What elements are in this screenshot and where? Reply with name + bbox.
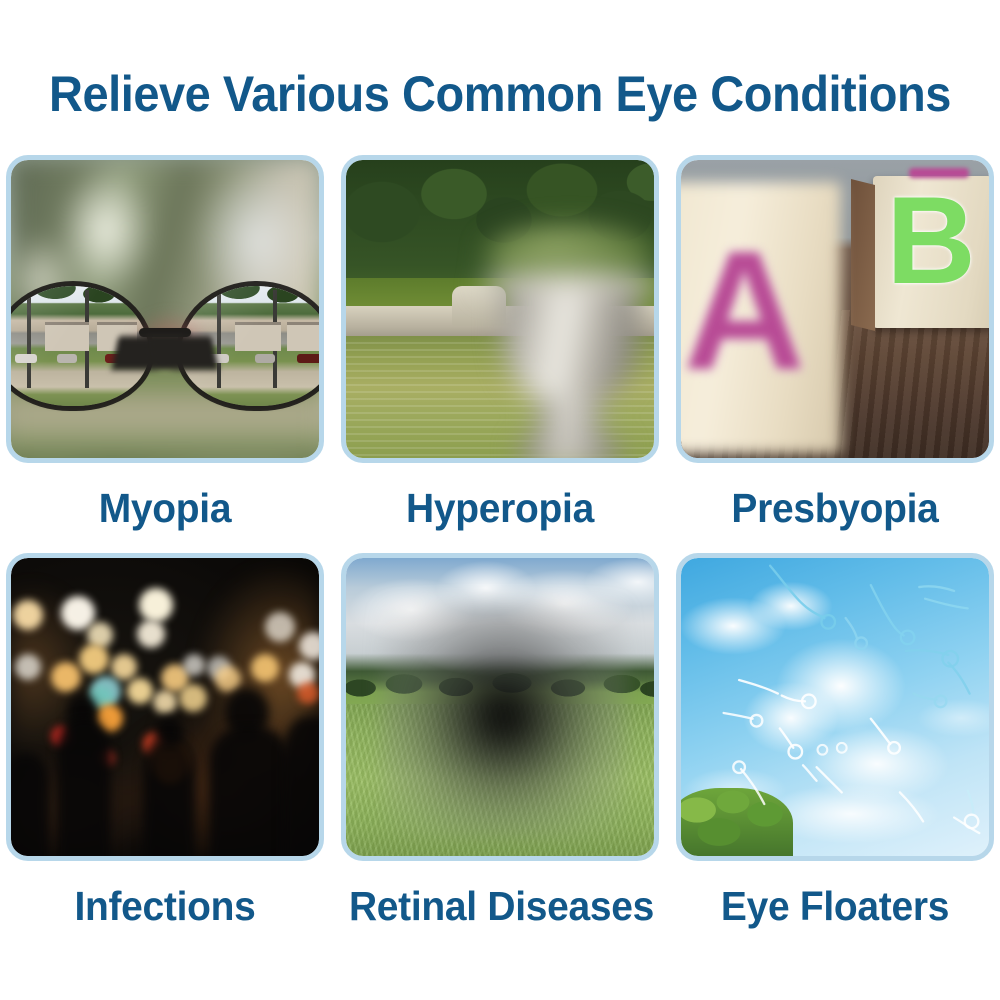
letter-a-glyph: A (683, 236, 803, 386)
infections-scene (11, 558, 319, 856)
page-title: Relieve Various Common Eye Conditions (30, 66, 970, 122)
pink-letter-edge (909, 168, 969, 178)
presbyopia-scene: B A (681, 160, 989, 458)
bokeh-light (127, 678, 153, 704)
myopia-scene (11, 160, 319, 458)
person-silhouette (143, 738, 195, 856)
central-blind-spot (380, 602, 628, 840)
bokeh-light (79, 644, 109, 674)
person-silhouette (57, 718, 111, 856)
retinal-diseases-scene (346, 558, 654, 856)
bokeh-light (13, 600, 43, 630)
condition-card-infections[interactable]: Infections (6, 553, 324, 951)
letter-b-glyph: B (879, 186, 983, 296)
infections-photo (6, 553, 324, 861)
conditions-grid: Myopia (6, 155, 994, 951)
eye-floaters-photo (676, 553, 994, 861)
bokeh-light (51, 662, 81, 692)
person-silhouette (11, 754, 49, 856)
condition-card-eye-floaters[interactable]: Eye Floaters (676, 553, 994, 951)
hyperopia-scene (346, 160, 654, 458)
condition-label-presbyopia: Presbyopia (684, 463, 986, 553)
condition-label-retinal-diseases: Retinal Diseases (349, 861, 651, 951)
presbyopia-photo: B A (676, 155, 994, 463)
condition-card-retinal-diseases[interactable]: Retinal Diseases (341, 553, 659, 951)
bokeh-light (183, 654, 205, 676)
floater-overlay (681, 558, 989, 856)
promotional-graphic: Relieve Various Common Eye Conditions (0, 0, 1000, 1000)
bokeh-light (153, 690, 177, 714)
condition-label-infections: Infections (14, 861, 316, 951)
bokeh-light (215, 666, 241, 692)
bokeh-light (265, 612, 295, 642)
blurred-stone-urn (480, 226, 654, 458)
myopia-photo (6, 155, 324, 463)
condition-card-hyperopia[interactable]: Hyperopia (341, 155, 659, 553)
person-silhouette (283, 716, 319, 856)
bokeh-light (139, 588, 173, 622)
bokeh-light (111, 654, 137, 680)
condition-card-presbyopia[interactable]: B A Presbyopia (676, 155, 994, 553)
condition-card-myopia[interactable]: Myopia (6, 155, 324, 553)
bokeh-light (179, 684, 207, 712)
bokeh-light (137, 620, 165, 648)
bokeh-light (299, 632, 319, 660)
hyperopia-photo (341, 155, 659, 463)
condition-label-eye-floaters: Eye Floaters (684, 861, 986, 951)
person-silhouette (209, 726, 291, 856)
condition-label-myopia: Myopia (14, 463, 316, 553)
condition-label-hyperopia: Hyperopia (349, 463, 651, 553)
retinal-diseases-photo (341, 553, 659, 861)
bokeh-light (15, 654, 41, 680)
bokeh-light (297, 682, 319, 704)
eye-floaters-scene (681, 558, 989, 856)
bokeh-light (251, 654, 279, 682)
